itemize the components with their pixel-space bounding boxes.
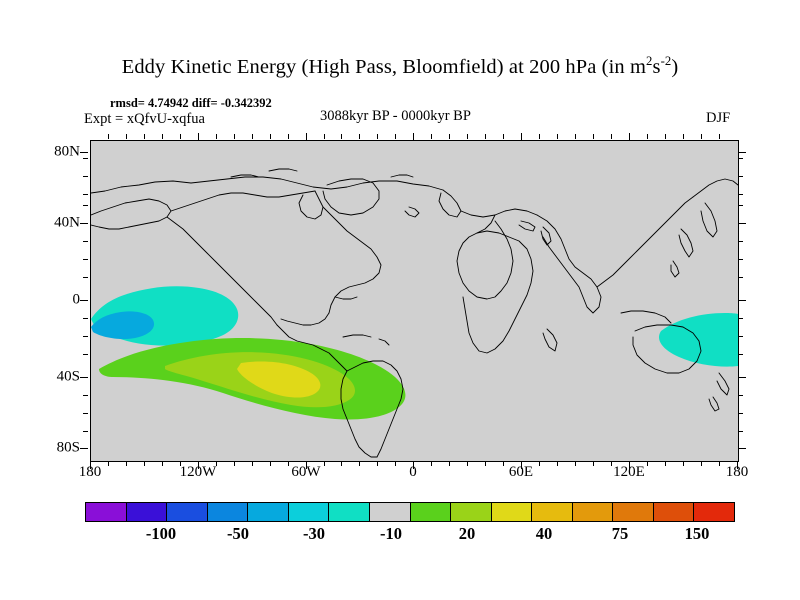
colorbar-cell-11: [532, 503, 573, 521]
x-tick: [485, 461, 486, 466]
figure-title: Eddy Kinetic Energy (High Pass, Bloomfie…: [0, 56, 800, 79]
y-tick-80n: [80, 152, 88, 153]
colorbar-cell-7: [370, 503, 411, 521]
x-tick: [503, 461, 504, 466]
x-tick-top: [306, 133, 307, 141]
x-tick: [341, 461, 342, 466]
y-tick: [83, 354, 88, 355]
y-axis-label-2: 0: [73, 292, 81, 309]
rmsd-statistics-label: rmsd= 4.74942 diff= -0.342392: [110, 96, 272, 111]
colorbar-cell-0: [86, 503, 127, 521]
x-tick-top: [395, 134, 396, 139]
x-tick-top: [701, 134, 702, 139]
x-tick-top: [593, 134, 594, 139]
y-tick-right: [738, 300, 746, 301]
y-axis-label-1: 40N: [54, 215, 80, 232]
colorbar-cell-3: [208, 503, 249, 521]
colorbar-cell-9: [451, 503, 492, 521]
x-tick-top: [288, 134, 289, 139]
x-tick-top: [467, 134, 468, 139]
y-tick: [83, 336, 88, 337]
colorbar-label-2: -30: [303, 524, 325, 544]
colorbar-cell-12: [573, 503, 614, 521]
x-tick: [467, 461, 468, 466]
y-tick: [83, 241, 88, 242]
x-tick-top: [180, 134, 181, 139]
x-tick-top: [431, 134, 432, 139]
x-tick: [108, 461, 109, 466]
y-tick: [83, 194, 88, 195]
y-tick-0: [80, 300, 88, 301]
x-tick-top: [503, 134, 504, 139]
colorbar-cell-2: [167, 503, 208, 521]
y-tick-right: [738, 318, 743, 319]
x-tick: [252, 461, 253, 466]
colorbar: [85, 502, 735, 522]
x-tick: [144, 461, 145, 466]
colorbar-label-6: 75: [612, 524, 629, 544]
time-period-label: 3088kyr BP - 0000kyr BP: [320, 108, 471, 125]
y-tick: [83, 176, 88, 177]
colorbar-label-3: -10: [380, 524, 402, 544]
y-tick-right: [738, 448, 746, 449]
x-tick-top: [324, 134, 325, 139]
x-tick: [647, 461, 648, 466]
map-canvas: [91, 141, 738, 461]
colorbar-cell-14: [654, 503, 695, 521]
figure-title-mid: s: [652, 56, 660, 78]
x-tick: [126, 461, 127, 466]
y-tick-40n: [80, 223, 88, 224]
x-tick: [270, 461, 271, 466]
colorbar-label-7: 150: [685, 524, 710, 544]
y-tick: [83, 431, 88, 432]
x-axis-label-5: 120E: [613, 464, 645, 481]
colorbar-cell-13: [613, 503, 654, 521]
y-tick-right: [738, 413, 743, 414]
y-tick-right: [738, 152, 746, 153]
x-tick-top: [413, 133, 414, 141]
y-axis-label-3: 40S: [57, 369, 80, 386]
x-tick-top: [647, 134, 648, 139]
x-tick: [719, 461, 720, 466]
x-tick: [665, 461, 666, 466]
y-tick-right: [738, 205, 743, 206]
y-tick-right: [738, 336, 743, 337]
y-tick-80s: [80, 448, 88, 449]
x-tick-top: [575, 134, 576, 139]
y-tick: [83, 205, 88, 206]
colorbar-cell-15: [694, 503, 734, 521]
x-tick-top: [126, 134, 127, 139]
figure-title-suffix: ): [671, 56, 678, 78]
y-tick-right: [738, 259, 743, 260]
y-tick: [83, 277, 88, 278]
x-tick-top: [521, 133, 522, 141]
y-tick-right: [738, 377, 746, 378]
colorbar-cell-8: [411, 503, 452, 521]
colorbar-cell-10: [492, 503, 533, 521]
y-tick-right: [738, 176, 743, 177]
y-axis-label-4: 80S: [57, 440, 80, 457]
y-tick: [83, 259, 88, 260]
x-tick: [395, 461, 396, 466]
x-tick-top: [252, 134, 253, 139]
x-tick: [324, 461, 325, 466]
y-tick-right: [738, 431, 743, 432]
x-tick-top: [611, 134, 612, 139]
x-tick: [701, 461, 702, 466]
x-tick-top: [719, 134, 720, 139]
figure-canvas: Eddy Kinetic Energy (High Pass, Bloomfie…: [0, 0, 800, 600]
x-axis-label-6: 180: [726, 464, 749, 481]
y-tick: [83, 413, 88, 414]
colorbar-label-1: -50: [227, 524, 249, 544]
coastline-layer: [91, 141, 738, 461]
x-tick-top: [108, 134, 109, 139]
x-tick-top: [665, 134, 666, 139]
x-tick-top: [341, 134, 342, 139]
x-tick: [431, 461, 432, 466]
x-tick-top: [359, 134, 360, 139]
x-tick-top: [144, 134, 145, 139]
colorbar-cell-6: [329, 503, 370, 521]
y-tick-right: [738, 241, 743, 242]
figure-title-prefix: Eddy Kinetic Energy (High Pass, Bloomfie…: [122, 56, 646, 78]
x-tick: [557, 461, 558, 466]
x-tick: [683, 461, 684, 466]
x-tick-top: [216, 134, 217, 139]
y-tick: [83, 158, 88, 159]
x-tick: [575, 461, 576, 466]
colorbar-cell-5: [289, 503, 330, 521]
y-tick-right: [738, 395, 743, 396]
x-axis-label-4: 60E: [509, 464, 533, 481]
x-tick: [377, 461, 378, 466]
x-tick: [234, 461, 235, 466]
y-axis-label-0: 80N: [54, 144, 80, 161]
x-tick-top: [162, 134, 163, 139]
x-tick-top: [449, 134, 450, 139]
y-tick-right: [738, 223, 746, 224]
colorbar-cell-1: [127, 503, 168, 521]
y-tick: [83, 395, 88, 396]
season-label: DJF: [706, 110, 730, 127]
y-tick-right: [738, 354, 743, 355]
y-tick-40s: [80, 377, 88, 378]
x-tick-top: [234, 134, 235, 139]
x-axis-label-3: 0: [409, 464, 417, 481]
y-tick-right: [738, 277, 743, 278]
x-tick-top: [629, 133, 630, 141]
x-tick: [593, 461, 594, 466]
x-tick: [539, 461, 540, 466]
x-tick-top: [557, 134, 558, 139]
x-tick: [449, 461, 450, 466]
x-tick: [359, 461, 360, 466]
x-tick-top: [198, 133, 199, 141]
y-tick-right: [738, 158, 743, 159]
map-plot-area: [90, 140, 739, 462]
x-tick: [162, 461, 163, 466]
x-tick-top: [377, 134, 378, 139]
x-tick-top: [683, 134, 684, 139]
colorbar-label-5: 40: [536, 524, 553, 544]
x-tick-top: [539, 134, 540, 139]
x-tick: [288, 461, 289, 466]
y-tick-right: [738, 194, 743, 195]
figure-title-superscript-2: -2: [661, 54, 672, 68]
experiment-label: Expt = xQfvU-xqfua: [84, 111, 205, 128]
y-tick: [83, 318, 88, 319]
x-axis-label-1: 120W: [180, 464, 217, 481]
colorbar-label-0: -100: [146, 524, 176, 544]
x-axis-label-2: 60W: [291, 464, 320, 481]
x-tick: [611, 461, 612, 466]
colorbar-label-4: 20: [459, 524, 476, 544]
x-tick-top: [270, 134, 271, 139]
x-tick-top: [485, 134, 486, 139]
x-axis-label-0: 180: [79, 464, 102, 481]
colorbar-cell-4: [248, 503, 289, 521]
